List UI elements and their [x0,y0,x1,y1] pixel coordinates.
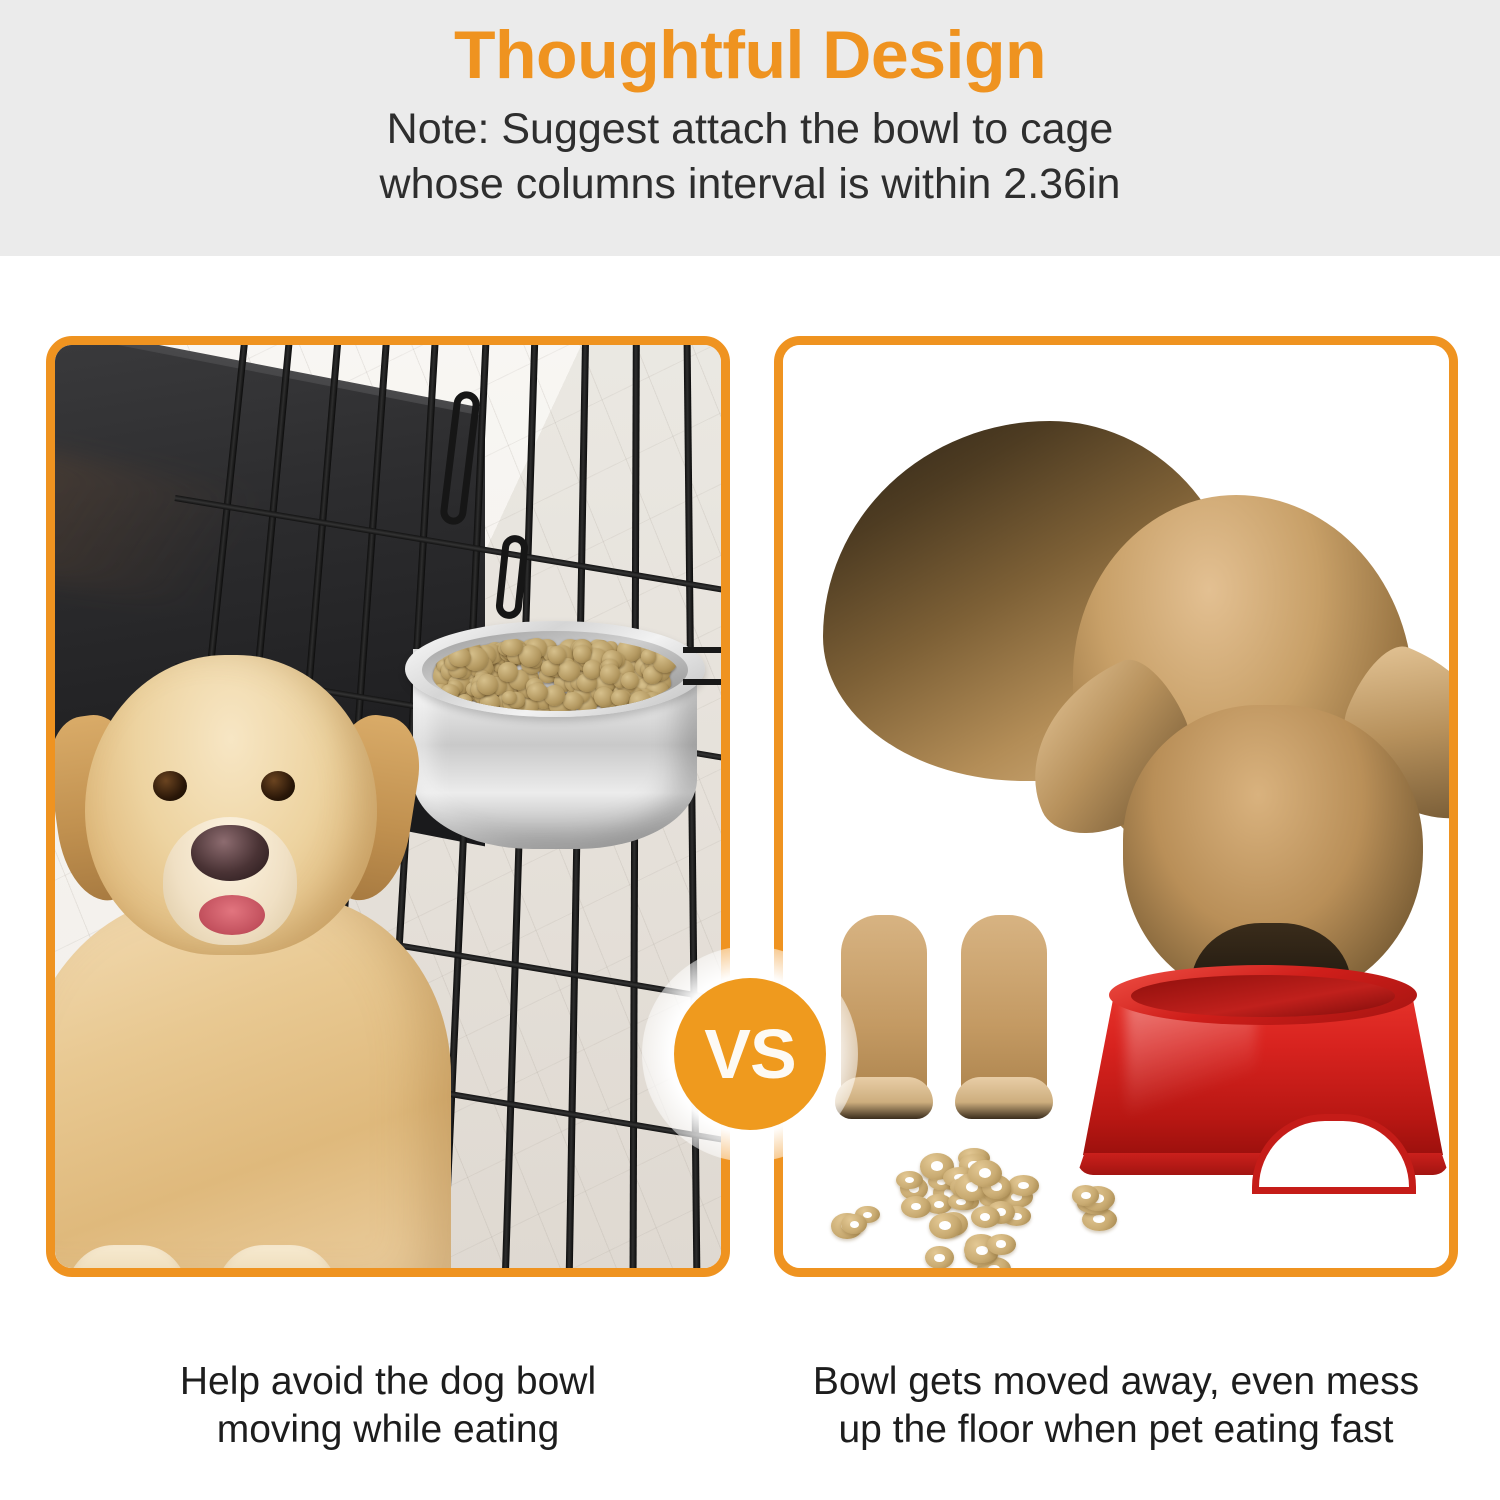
banner-subtitle-line-2: whose columns interval is within 2.36in [0,157,1500,212]
spilled-kibble-ring [971,1206,1000,1228]
spilled-kibble-ring [929,1213,962,1239]
kibble-piece [477,674,498,695]
page-title: Thoughtful Design [0,0,1500,94]
kibble-piece [621,672,639,689]
dog-eye-left [153,771,187,801]
kibble-piece [498,662,518,681]
comparison-panel-left [46,336,730,1277]
caption-left-line-2: moving while eating [46,1406,730,1454]
spilled-kibble-ring [1008,1175,1040,1196]
kibble-piece [548,646,566,664]
red-plastic-bowl [1083,965,1443,1185]
crate-bowl-photo [55,345,721,1268]
header-banner: Thoughtful Design Note: Suggest attach t… [0,0,1500,256]
spilled-kibble-ring [1072,1185,1099,1205]
comparison-section: VS Help avoid the dog bowl moving while … [0,256,1500,1500]
dog-open-mouth [199,895,265,935]
spilled-kibble-ring [968,1160,1002,1188]
banner-subtitle: Note: Suggest attach the bowl to cage wh… [0,94,1500,212]
bowl-interior [1131,975,1395,1017]
banner-subtitle-line-1: Note: Suggest attach the bowl to cage [387,105,1114,153]
caption-left: Help avoid the dog bowl moving while eat… [46,1358,730,1453]
kibble-piece [527,683,548,701]
dog-eye-right [261,771,295,801]
caption-right-line-2: up the floor when pet eating fast [774,1406,1458,1454]
vs-badge: VS [674,978,826,1130]
kibble-piece [611,690,628,706]
kibble-piece [583,660,601,678]
kibble-piece [563,692,584,710]
comparison-panel-right [774,336,1458,1277]
spilled-kibble-ring [896,1171,923,1189]
kibble-piece [544,685,565,706]
dog-nose [191,825,269,881]
kibble-piece [641,649,655,664]
vs-badge-label: VS [704,1019,795,1089]
spilled-kibble-ring [987,1234,1016,1255]
spilled-kibble-ring [901,1196,930,1218]
spilled-kibble-pile [801,1085,1131,1255]
dog-paws [67,1245,427,1268]
spilled-kibble-ring [925,1246,954,1268]
caption-left-line-1: Help avoid the dog bowl [180,1360,596,1403]
golden-retriever-dog [55,645,471,1268]
kibble-piece [629,691,652,711]
kibble-piece [501,638,523,657]
loose-bowl-photo [783,345,1449,1268]
kibble-piece [653,649,677,672]
spilled-kibble-ring [841,1214,867,1234]
bowl-mounting-bracket [683,647,721,685]
kibble-piece [502,691,517,705]
caption-right: Bowl gets moved away, even mess up the f… [774,1358,1458,1453]
caption-right-line-1: Bowl gets moved away, even mess [813,1360,1419,1403]
